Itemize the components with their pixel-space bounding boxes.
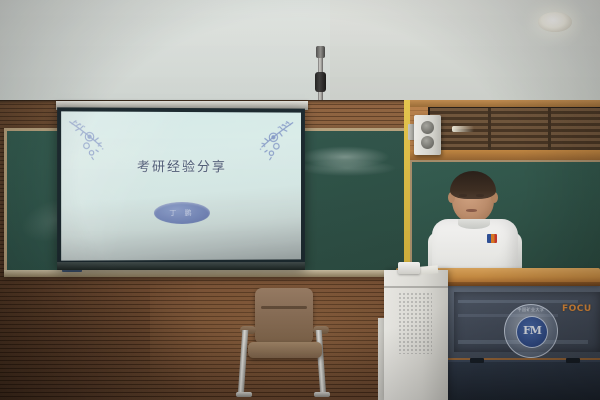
window-reflection <box>452 126 474 132</box>
podium-panel-clip <box>470 358 484 363</box>
slide-title: 考研经验分享 <box>61 156 301 175</box>
window-top-trim <box>404 100 600 107</box>
chair-seat <box>248 342 322 358</box>
speaker-driver-icon <box>421 121 434 134</box>
chair-foot <box>236 392 252 397</box>
emblem-monogram: FM <box>517 324 547 337</box>
podium-panel-clip <box>566 358 580 363</box>
projection-screen-surface: 考研经验分享 丁 鹏 <box>61 111 301 260</box>
shirt-logo-icon <box>487 234 497 243</box>
wall-speaker <box>414 115 441 155</box>
speaker-driver-icon <box>421 136 434 149</box>
university-emblem-icon: 中国矿业大学 FM <box>504 304 558 358</box>
ceiling-mount-head <box>316 46 325 58</box>
presenter-collar <box>458 219 490 229</box>
slide-presenter-name: 丁 鹏 <box>154 208 210 218</box>
podium-speaker-grille <box>398 292 432 354</box>
presenter-eye <box>459 194 467 197</box>
slide-presenter-badge: 丁 鹏 <box>154 202 210 224</box>
chalk-smudge <box>298 160 396 176</box>
emblem-inner-ring: FM <box>516 316 548 348</box>
podium-microphone-base <box>398 262 420 274</box>
podium-column-seam <box>384 286 448 288</box>
chair-backrest <box>255 288 313 344</box>
ceiling-mount-body <box>315 72 326 92</box>
ceiling-light-icon <box>538 12 572 32</box>
chair-backrest-seam <box>261 306 307 309</box>
emblem-caption: 中国矿业大学 <box>505 307 557 313</box>
window-mullion <box>548 108 551 150</box>
ceiling-left-tint <box>0 0 330 104</box>
podium-reflection <box>458 300 578 303</box>
podium-brand-label: FOCU <box>562 304 592 314</box>
window-mullion <box>488 108 491 150</box>
presenter-mouth <box>466 209 477 212</box>
podium-lower-panel <box>448 360 600 400</box>
classroom-photo: 考研经验分享 丁 鹏 中国矿业大学 FM FOCU <box>0 0 600 400</box>
presenter-eye <box>476 194 484 197</box>
chair-foot <box>314 392 330 397</box>
podium-paper-sheet <box>420 265 439 275</box>
screen-bottom-bar <box>57 262 305 270</box>
